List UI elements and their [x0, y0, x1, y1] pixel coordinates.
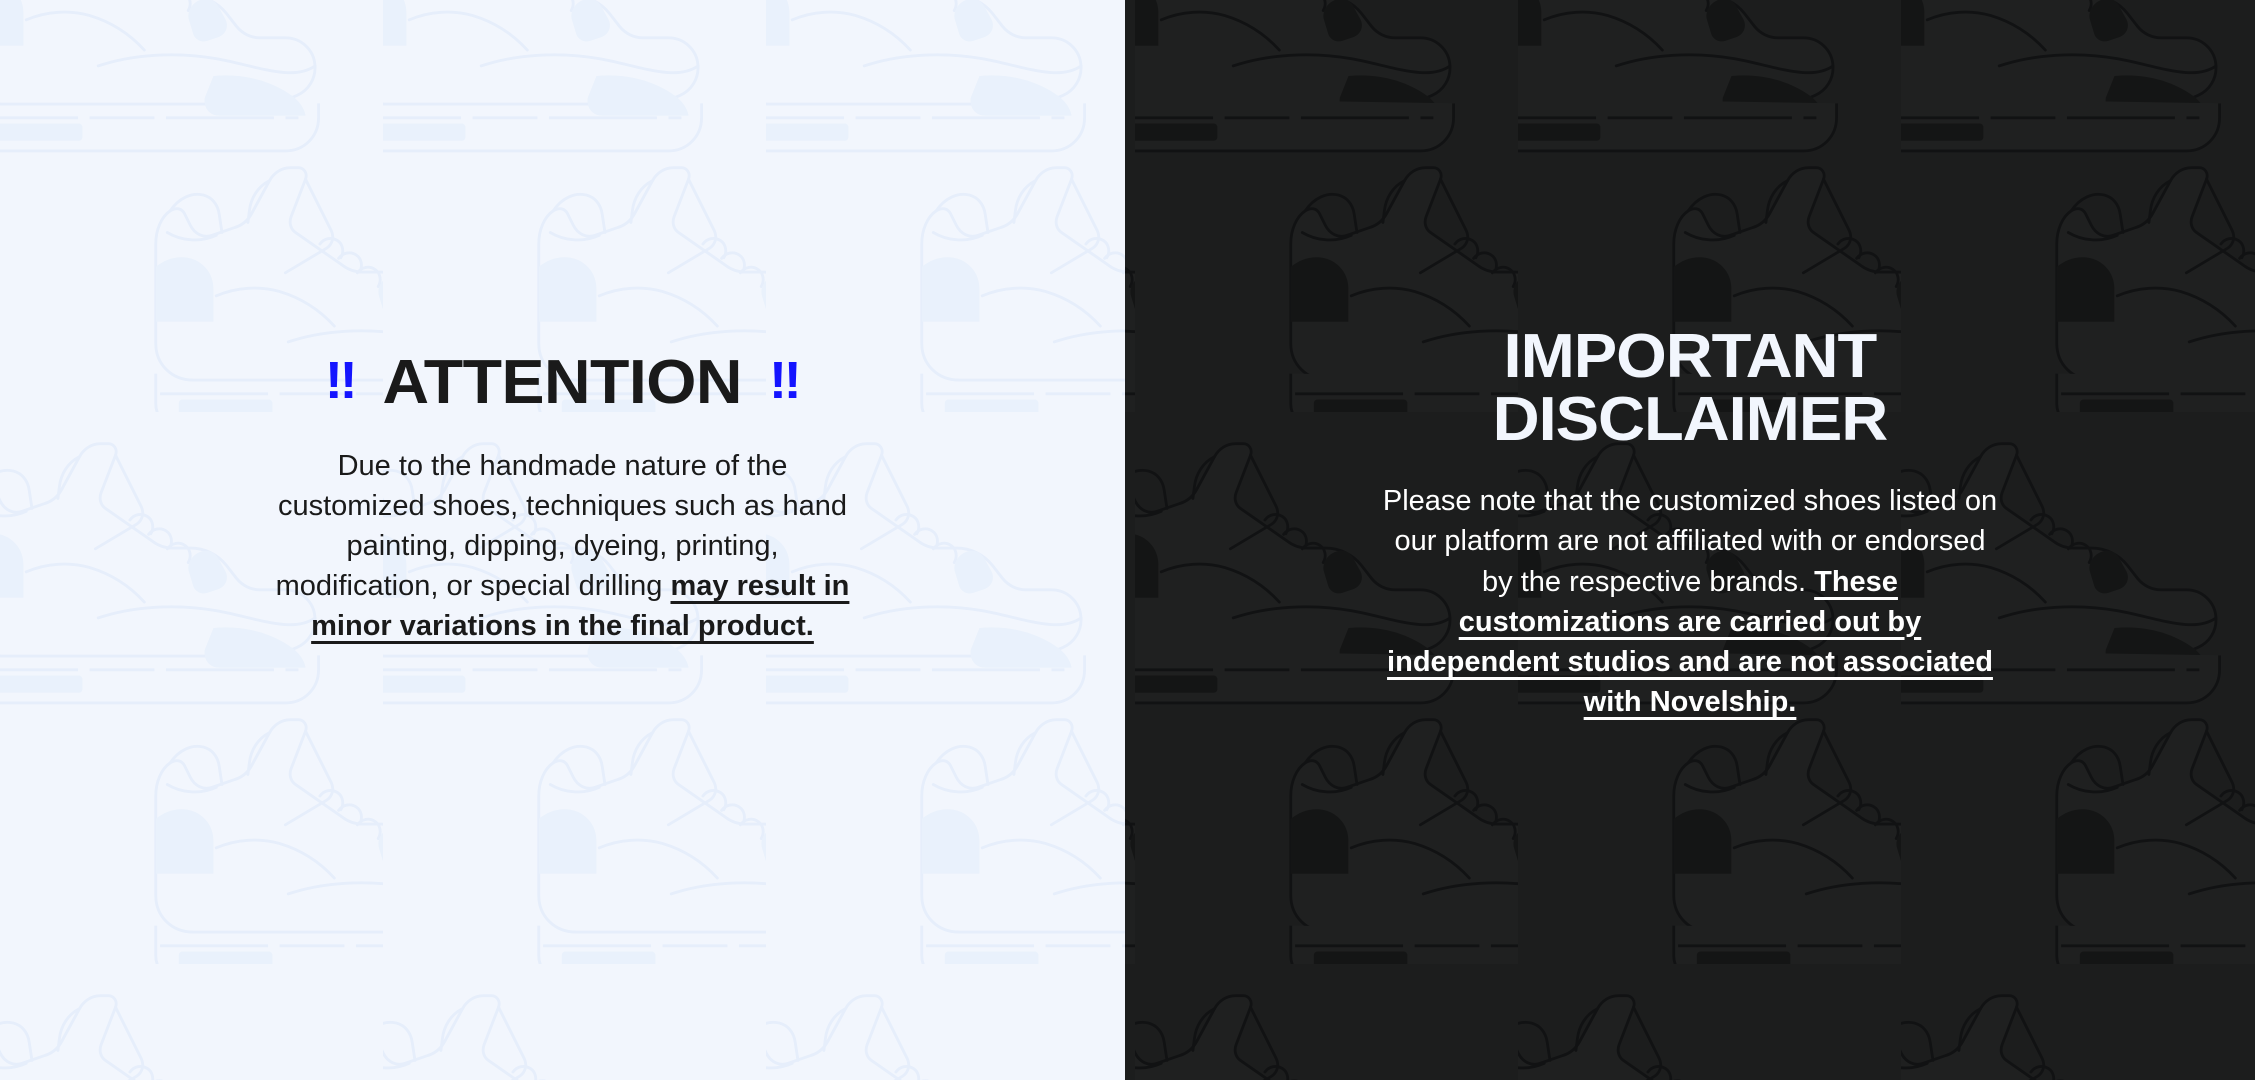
double-exclamation-icon-left: ‼ — [325, 355, 356, 407]
attention-panel: ‼ ATTENTION ‼ Due to the handmade nature… — [0, 0, 1125, 1080]
disclaimer-content: IMPORTANT DISCLAIMER Please note that th… — [1125, 0, 2255, 722]
attention-content: ‼ ATTENTION ‼ Due to the handmade nature… — [0, 0, 1125, 646]
disclaimer-banner: ‼ ATTENTION ‼ Due to the handmade nature… — [0, 0, 2255, 1080]
disclaimer-panel: IMPORTANT DISCLAIMER Please note that th… — [1125, 0, 2255, 1080]
attention-heading-label: ATTENTION — [383, 352, 742, 414]
disclaimer-body: Please note that the customized shoes li… — [1380, 481, 2000, 721]
attention-heading: ‼ ATTENTION ‼ — [325, 352, 800, 414]
double-exclamation-icon-right: ‼ — [769, 355, 800, 407]
disclaimer-heading-line-1: IMPORTANT — [1504, 322, 1877, 391]
disclaimer-heading-line-2: DISCLAIMER — [1493, 385, 1888, 454]
disclaimer-heading: IMPORTANT DISCLAIMER — [1493, 325, 1888, 451]
disclaimer-body-plain: Please note that the customized shoes li… — [1383, 485, 1997, 597]
attention-body: Due to the handmade nature of the custom… — [263, 446, 863, 646]
